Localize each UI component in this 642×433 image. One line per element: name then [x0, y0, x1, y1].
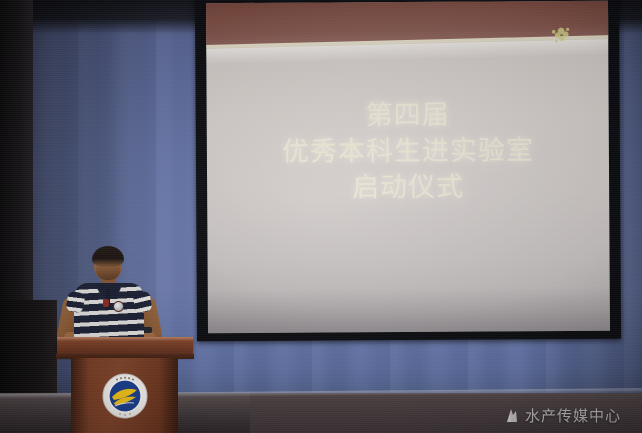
- projection-screen-frame: 第四届 优秀本科生进实验室 启动仪式: [195, 0, 621, 341]
- photo-scene: 第四届 优秀本科生进实验室 启动仪式: [0, 0, 642, 433]
- slide-title-line-3: 启动仪式: [207, 169, 609, 207]
- podium-top-highlight: [57, 337, 193, 341]
- speaker-right-sleeve: [132, 291, 152, 314]
- wing-logo-icon: [505, 408, 520, 424]
- slide-title-line-2: 优秀本科生进实验室: [207, 133, 609, 171]
- floral-ornament-icon: [547, 23, 574, 48]
- watermark-text: 水产传媒中心: [525, 405, 621, 426]
- university-seal-icon: [102, 373, 148, 419]
- speaker-ribbon: [103, 299, 109, 307]
- podium-left-shading: [71, 358, 89, 433]
- watermark: 水产传媒中心: [505, 405, 621, 426]
- projection-screen: 第四届 优秀本科生进实验室 启动仪式: [206, 1, 610, 333]
- slide-title: 第四届 优秀本科生进实验室 启动仪式: [207, 97, 610, 207]
- podium-right-shading: [160, 358, 178, 433]
- speaker-badge: [113, 301, 124, 312]
- screen-bottom-shading: [208, 287, 610, 333]
- speaker-hair: [92, 246, 124, 267]
- slide-title-line-1: 第四届: [207, 97, 609, 135]
